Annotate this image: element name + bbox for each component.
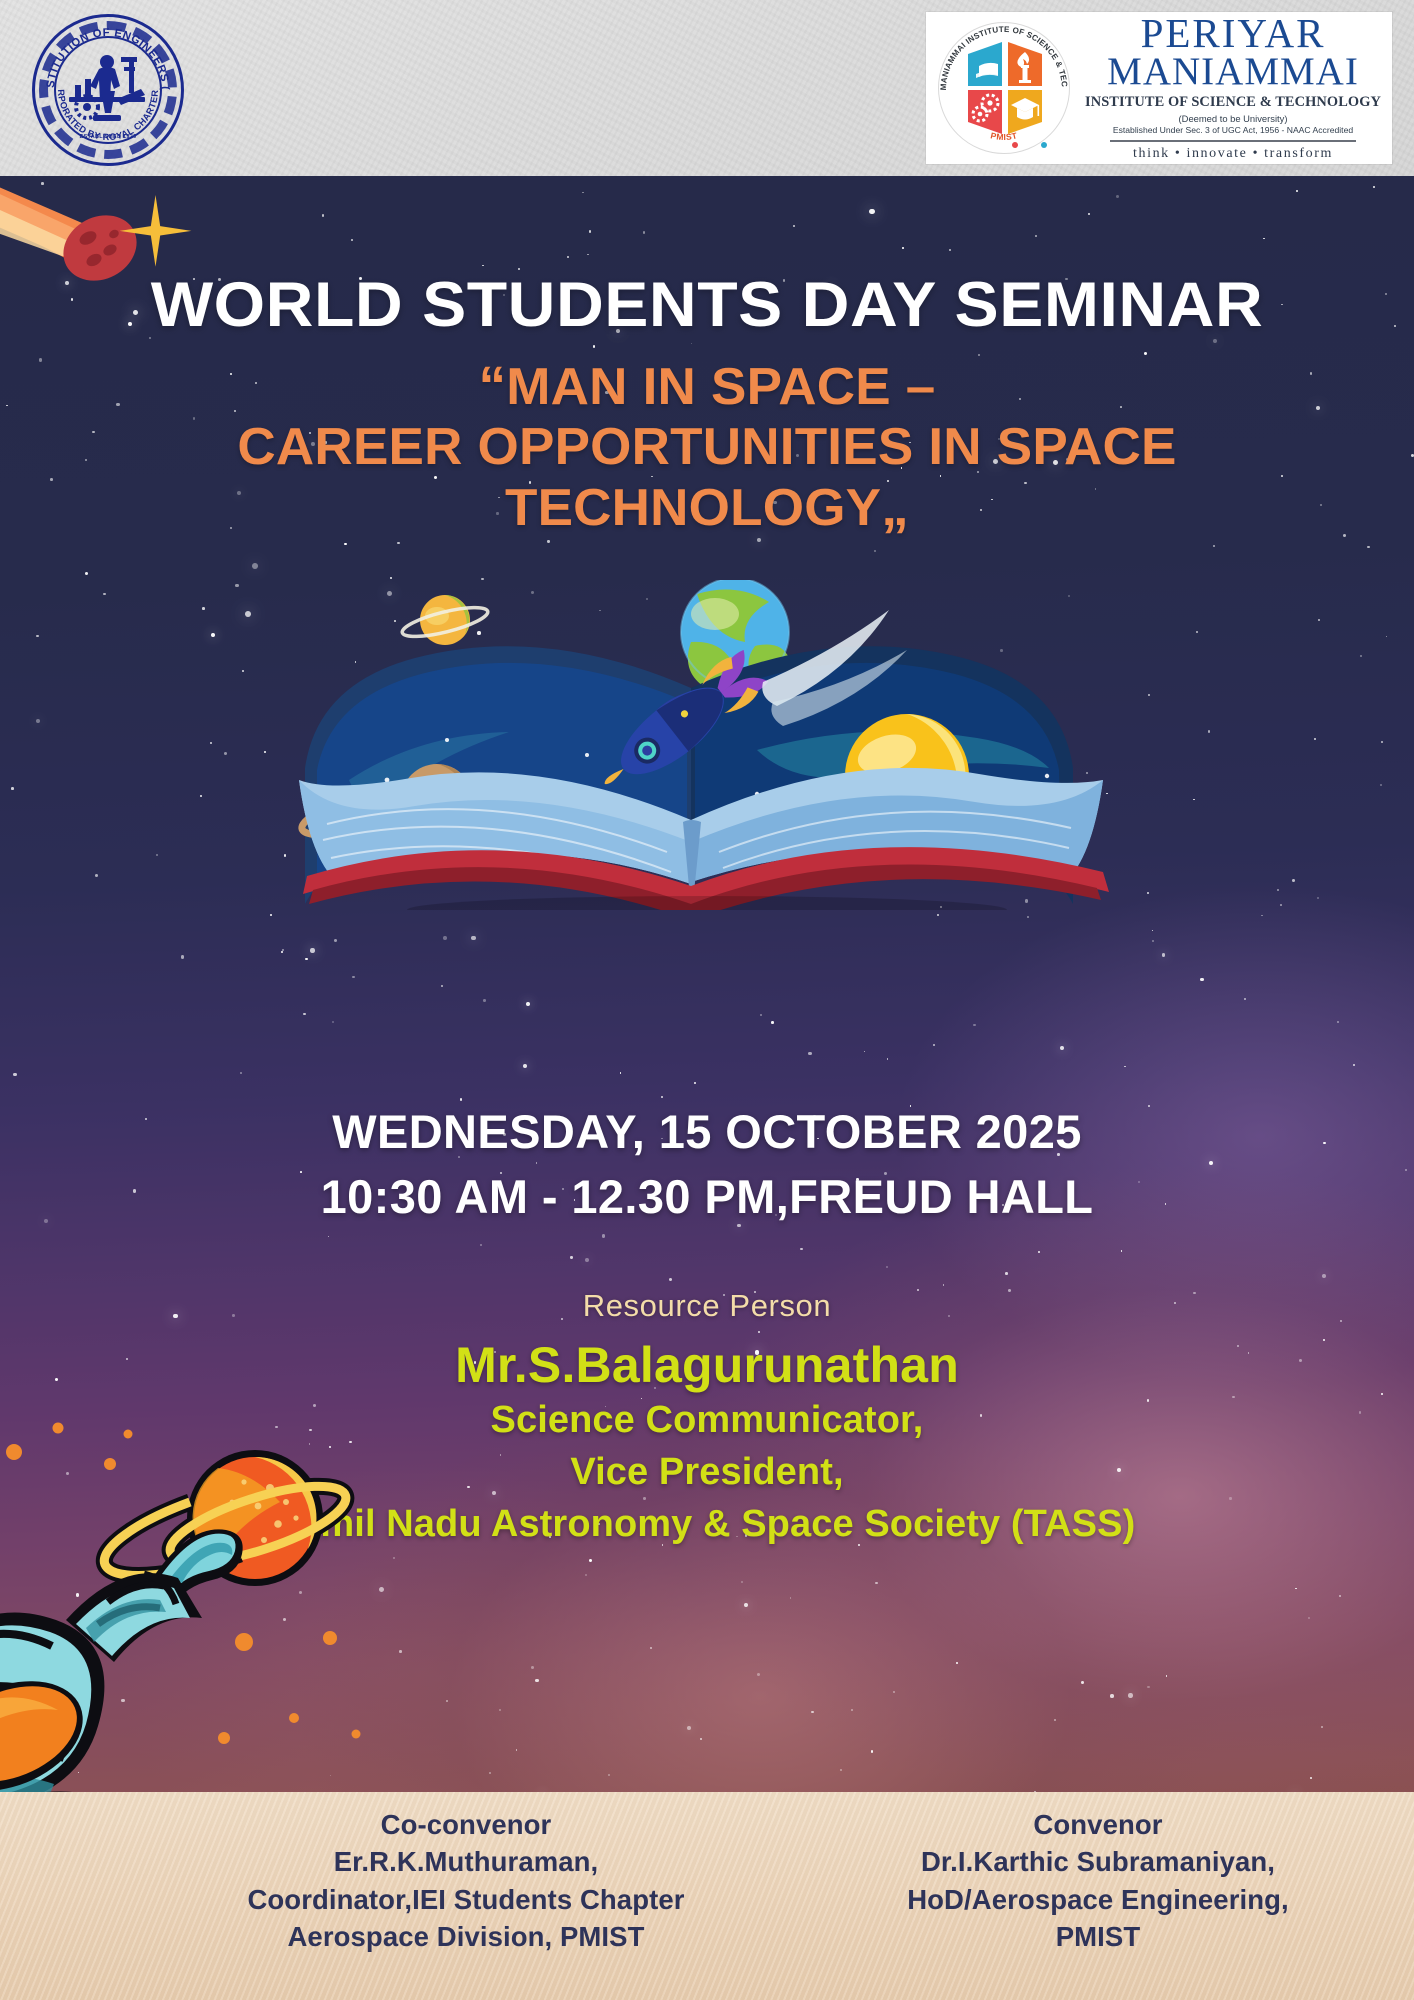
date-line: WEDNESDAY, 15 OCTOBER 2025 [0, 1100, 1414, 1165]
pmist-quadrant-gears [968, 90, 1002, 134]
pmist-quadrant-book [968, 42, 1002, 86]
co-convenor-block: Co-convenor Er.R.K.Muthuraman, Coordinat… [0, 1792, 782, 2000]
pmist-quadrant-torch [1008, 42, 1042, 86]
pmist-dot-red [1012, 142, 1018, 148]
subtitle-text-3: TECHNOLOGY [505, 479, 881, 537]
convenor-title: Convenor [782, 1806, 1414, 1843]
iei-established-text: ESTABLISHED 1920 [32, 134, 184, 140]
pmist-emblem: PERIYAR MANIAMMAI INSTITUTE OF SCIENCE &… [932, 18, 1080, 158]
co-convenor-department: Aerospace Division, PMIST [150, 1918, 782, 1955]
convenor-name: Dr.I.Karthic Subramaniyan, [782, 1843, 1414, 1880]
subtitle-line-1: “MAN IN SPACE – [0, 356, 1414, 418]
pmist-wordmark: PERIYAR MANIAMMAI INSTITUTE OF SCIENCE &… [1080, 14, 1382, 162]
pmist-tagline: think • innovate • transform [1084, 146, 1382, 162]
convenor-department: PMIST [782, 1918, 1414, 1955]
poster-footer: Co-convenor Er.R.K.Muthuraman, Coordinat… [0, 1792, 1414, 2000]
convenor-designation: HoD/Aerospace Engineering, [782, 1881, 1414, 1918]
pmist-logo: PERIYAR MANIAMMAI INSTITUTE OF SCIENCE &… [926, 12, 1392, 164]
poster-root: THE INSTITUTION OF ENGINEERS (INDIA) INC… [0, 0, 1414, 2000]
open-quote: “ [479, 356, 507, 416]
pmist-line-maniammai: MANIAMMAI [1084, 52, 1382, 91]
pmist-line-deemed: (Deemed to be University) [1084, 113, 1382, 124]
open-book-space-illustration [287, 580, 1127, 910]
pmist-dot-cyan [1041, 142, 1047, 148]
close-quote: „ [881, 477, 909, 537]
time-venue-line: 10:30 AM - 12.30 PM,FREUD HALL [0, 1165, 1414, 1230]
co-convenor-designation: Coordinator,IEI Students Chapter [150, 1881, 782, 1918]
seminar-subtitle: “MAN IN SPACE – CAREER OPPORTUNITIES IN … [0, 356, 1414, 538]
subtitle-line-2: CAREER OPPORTUNITIES IN SPACE [0, 418, 1414, 477]
poster-header: THE INSTITUTION OF ENGINEERS (INDIA) INC… [0, 0, 1414, 176]
seminar-title: WORLD STUDENTS DAY SEMINAR [0, 274, 1414, 337]
pmist-line-established: Established Under Sec. 3 of UGC Act, 195… [1084, 125, 1382, 135]
pmist-quadrant-graduation-cap [1008, 90, 1042, 134]
date-time-block: WEDNESDAY, 15 OCTOBER 2025 10:30 AM - 12… [0, 1100, 1414, 1230]
subtitle-text-1: MAN IN SPACE – [506, 358, 935, 416]
iei-emblem-figure [63, 45, 153, 135]
saturn-planet-icon [400, 595, 490, 645]
pmist-emblem-svg: PERIYAR MANIAMMAI INSTITUTE OF SCIENCE &… [932, 18, 1080, 158]
pmist-line-institute: INSTITUTE OF SCIENCE & TECHNOLOGY [1084, 94, 1382, 111]
resource-person-label: Resource Person [0, 1288, 1414, 1324]
co-convenor-name: Er.R.K.Muthuraman, [150, 1843, 782, 1880]
iei-logo: THE INSTITUTION OF ENGINEERS (INDIA) INC… [32, 14, 184, 166]
resource-person-name: Mr.S.Balagurunathan [0, 1336, 1414, 1394]
subtitle-line-3: TECHNOLOGY„ [0, 477, 1414, 539]
pmist-divider [1110, 140, 1356, 142]
pmist-line-periyar: PERIYAR [1084, 14, 1382, 52]
pmist-arc-bottom-text: PMIST [990, 130, 1019, 142]
co-convenor-title: Co-convenor [150, 1806, 782, 1843]
convenor-block: Convenor Dr.I.Karthic Subramaniyan, HoD/… [782, 1792, 1414, 2000]
